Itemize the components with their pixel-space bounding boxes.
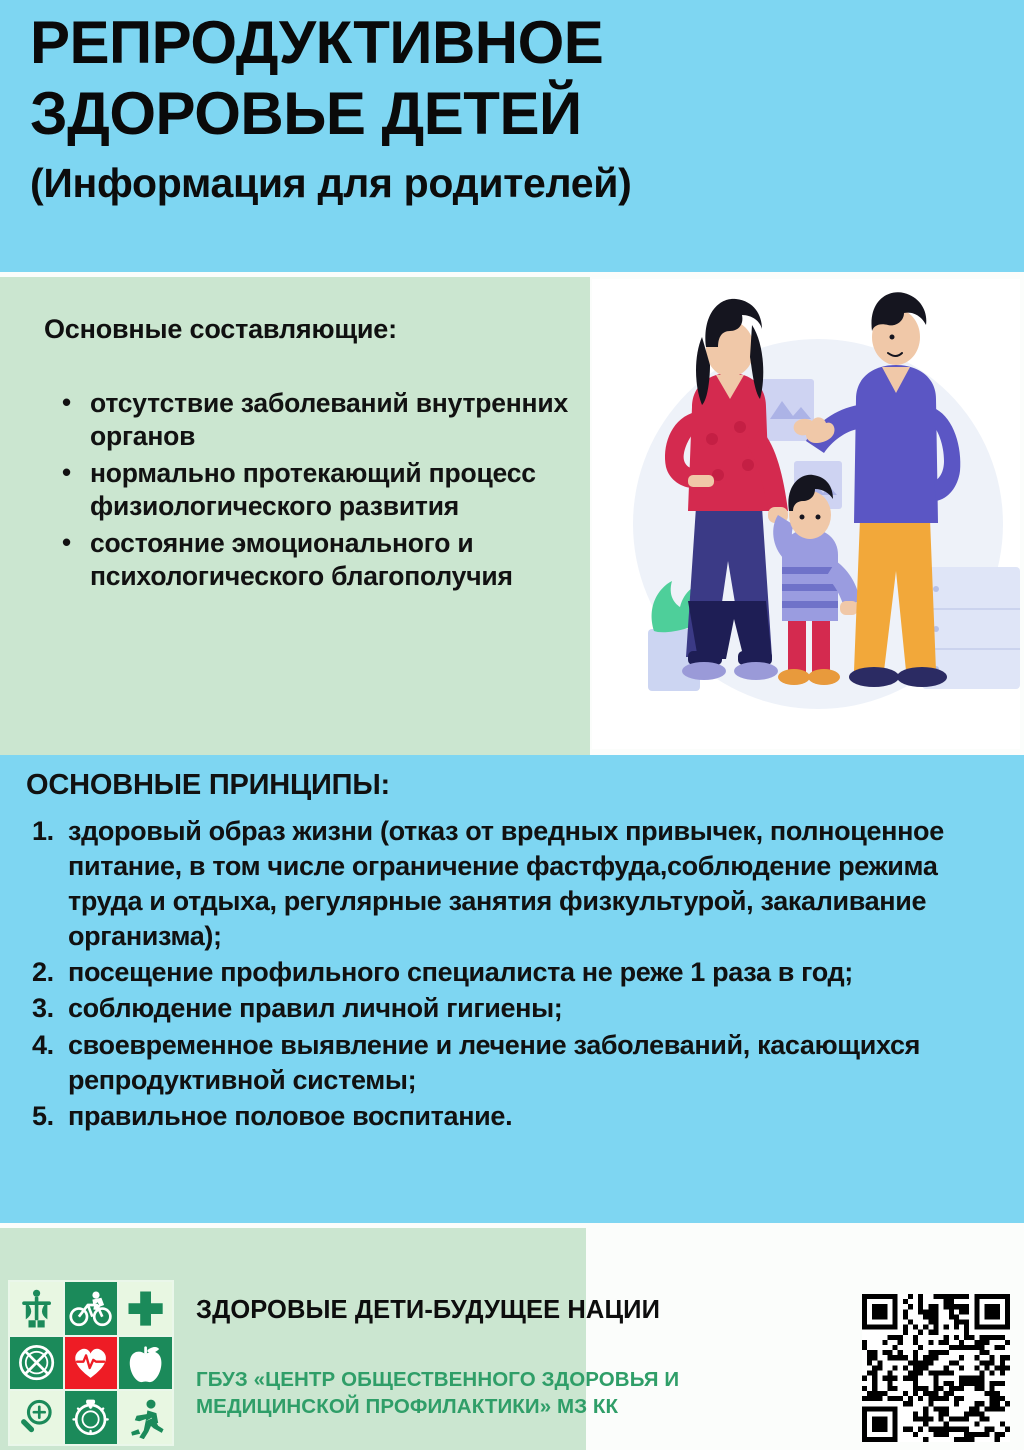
poster-root: РЕПРОДУКТИВНОЕ ЗДОРОВЬЕ ДЕТЕЙ (Информаци… <box>0 0 1024 1450</box>
principles-heading: ОСНОВНЫЕ ПРИНЦИПЫ: <box>26 769 1000 802</box>
poster-title-line-1: РЕПРОДУКТИВНОЕ <box>30 14 1004 73</box>
components-heading: Основные составляющие: <box>44 314 397 345</box>
list-item: отсутствие заболеваний внутренних органо… <box>52 387 592 454</box>
components-list: отсутствие заболеваний внутренних органо… <box>52 387 592 596</box>
list-item: соблюдение правил личной гигиены; <box>26 991 1000 1026</box>
apple-icon <box>119 1337 172 1390</box>
list-item: посещение профильного специалиста не реж… <box>26 955 1000 990</box>
list-item: нормально протекающий процесс физиологич… <box>52 457 592 524</box>
list-item: здоровый образ жизни (отказ от вредных п… <box>26 814 1000 954</box>
caduceus-icon <box>10 1282 63 1335</box>
organization-name: ГБУЗ «ЦЕНТР ОБЩЕСТВЕННОГО ЗДОРОВЬЯ И МЕД… <box>196 1366 846 1421</box>
poster-subtitle: (Информация для родителей) <box>30 160 1004 207</box>
list-item: своевременное выявление и лечение заболе… <box>26 1028 1000 1098</box>
poster-header: РЕПРОДУКТИВНОЕ ЗДОРОВЬЕ ДЕТЕЙ (Информаци… <box>0 0 1024 272</box>
medical-cross-icon <box>119 1282 172 1335</box>
cyclist-icon <box>65 1282 118 1335</box>
poster-title-line-2: ЗДОРОВЬЕ ДЕТЕЙ <box>30 85 1004 144</box>
organization-line-2: МЕДИЦИНСКОЙ ПРОФИЛАКТИКИ» МЗ КК <box>196 1393 846 1420</box>
list-item: состояние эмоционального и психологическ… <box>52 527 592 594</box>
heart-pulse-icon <box>65 1337 118 1390</box>
health-icon-grid <box>8 1280 174 1446</box>
organization-line-1: ГБУЗ «ЦЕНТР ОБЩЕСТВЕННОГО ЗДОРОВЬЯ И <box>196 1366 846 1393</box>
principles-section: ОСНОВНЫЕ ПРИНЦИПЫ: здоровый образ жизни … <box>0 755 1024 1223</box>
footer-slogan: ЗДОРОВЫЕ ДЕТИ-БУДУЩЕЕ НАЦИИ <box>196 1296 856 1325</box>
qr-code[interactable] <box>862 1294 1010 1442</box>
list-item: правильное половое воспитание. <box>26 1099 1000 1134</box>
runner-icon <box>119 1391 172 1444</box>
stopwatch-icon <box>65 1391 118 1444</box>
magnifier-plus-icon <box>10 1391 63 1444</box>
family-illustration <box>592 279 1020 749</box>
no-alcohol-icon <box>10 1337 63 1390</box>
principles-list: здоровый образ жизни (отказ от вредных п… <box>26 814 1000 1134</box>
components-section: Основные составляющие: отсутствие заболе… <box>0 277 590 755</box>
